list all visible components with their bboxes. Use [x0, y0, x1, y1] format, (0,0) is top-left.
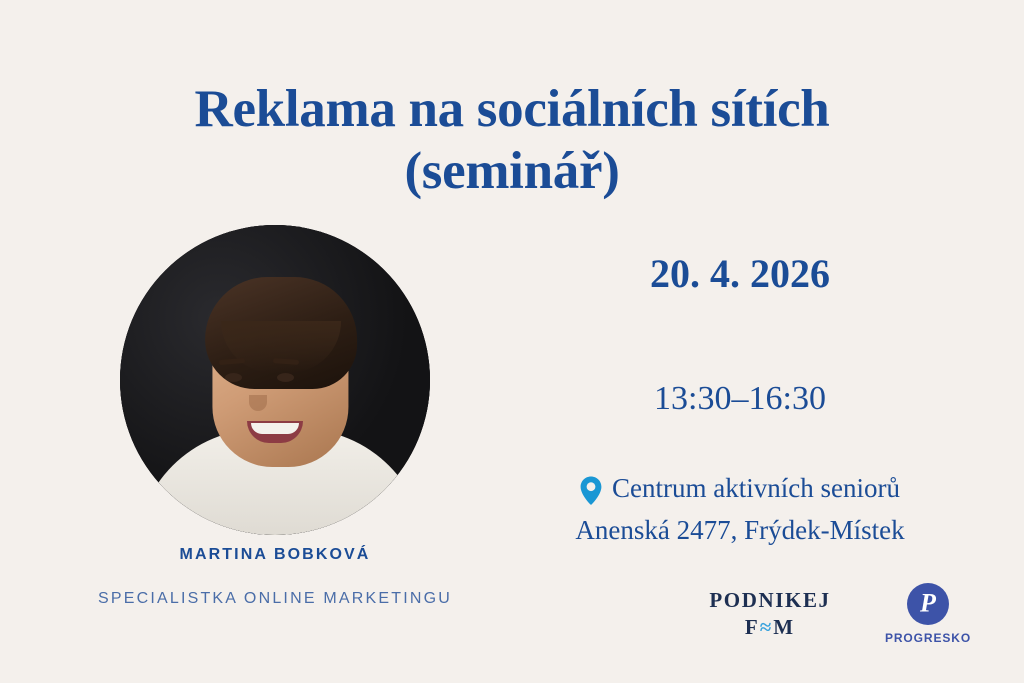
speaker-photo — [120, 225, 430, 535]
progresko-wordmark: PROGRESKO — [878, 631, 978, 645]
logo-letter-f: F — [745, 615, 760, 639]
avatar — [120, 225, 430, 535]
venue-name-row: Centrum aktivních seniorů — [580, 470, 900, 506]
event-date: 20. 4. 2026 — [490, 250, 990, 298]
logo-letter-m: M — [773, 615, 795, 639]
logo-podnikej-fm: F≈M — [690, 614, 850, 640]
event-time: 13:30–16:30 — [490, 378, 990, 420]
title-line-1: Reklama na sociálních sítích — [0, 78, 1024, 140]
venue-address: Anenská 2477, Frýdek-Místek — [470, 512, 1010, 548]
progresko-badge-icon: P — [907, 583, 949, 625]
logo-progresko: P PROGRESKO — [878, 583, 978, 645]
photo-eye-left — [225, 373, 242, 382]
page-title: Reklama na sociálních sítích (seminář) — [0, 78, 1024, 202]
event-poster: Reklama na sociálních sítích (seminář) M… — [0, 0, 1024, 683]
logo-podnikej: PODNIKEJ F≈M — [690, 588, 850, 640]
photo-hair — [205, 277, 357, 389]
map-pin-icon — [580, 476, 602, 505]
photo-eye-right — [277, 373, 294, 382]
wave-icon: ≈ — [760, 615, 774, 639]
venue-name: Centrum aktivních seniorů — [612, 470, 900, 506]
speaker-role: SPECIALISTKA ONLINE MARKETINGU — [70, 590, 480, 608]
logo-podnikej-wordmark: PODNIKEJ — [690, 588, 850, 612]
speaker-name: MARTINA BOBKOVÁ — [120, 546, 430, 564]
title-line-2: (seminář) — [0, 140, 1024, 202]
progresko-badge-letter: P — [907, 590, 949, 616]
event-venue: Centrum aktivních seniorů Anenská 2477, … — [470, 470, 1010, 548]
